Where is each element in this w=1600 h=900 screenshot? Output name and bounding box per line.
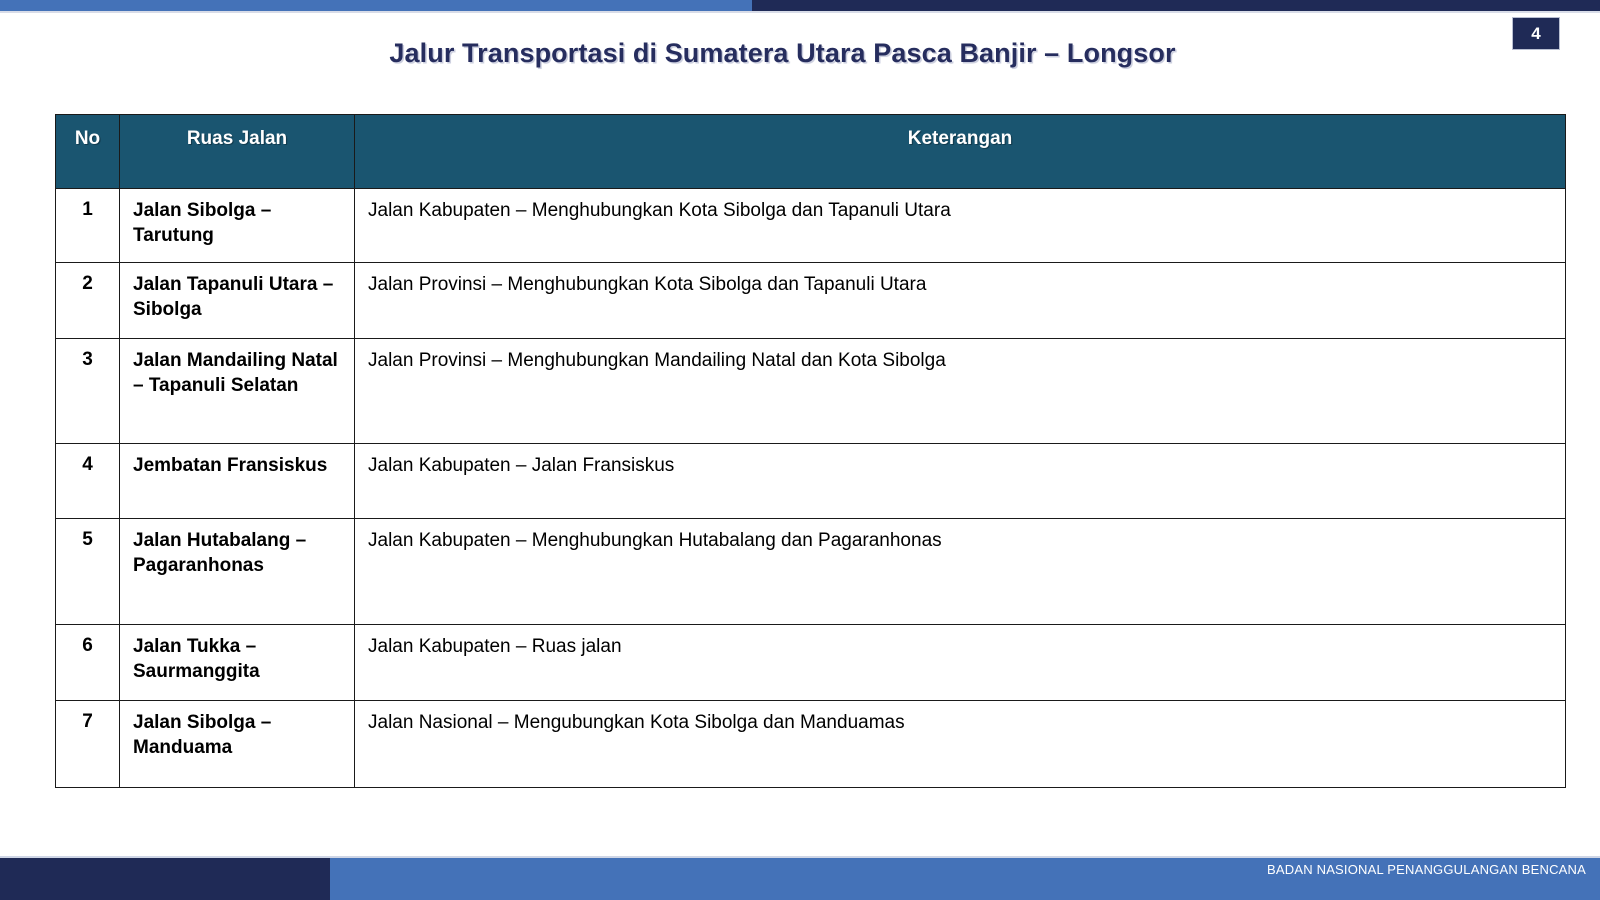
cell-keterangan: Jalan Kabupaten – Ruas jalan	[355, 625, 1566, 701]
table-row: 1 Jalan Sibolga – Tarutung Jalan Kabupat…	[56, 189, 1566, 263]
cell-ruas-jalan: Jalan Hutabalang – Pagaranhonas	[120, 519, 355, 625]
table-row: 7 Jalan Sibolga – Manduama Jalan Nasiona…	[56, 701, 1566, 788]
cell-no: 1	[56, 189, 120, 263]
top-accent-bar-right	[752, 0, 1600, 11]
cell-keterangan: Jalan Kabupaten – Menghubungkan Hutabala…	[355, 519, 1566, 625]
cell-no: 5	[56, 519, 120, 625]
column-header-no: No	[56, 115, 120, 189]
top-accent-bar-left	[0, 0, 752, 11]
table-header-row: No Ruas Jalan Keterangan	[56, 115, 1566, 189]
table-row: 6 Jalan Tukka – Saurmanggita Jalan Kabup…	[56, 625, 1566, 701]
cell-no: 3	[56, 339, 120, 444]
page-title: Jalur Transportasi di Sumatera Utara Pas…	[55, 38, 1510, 69]
cell-no: 2	[56, 263, 120, 339]
table-row: 4 Jembatan Fransiskus Jalan Kabupaten – …	[56, 444, 1566, 519]
table-row: 3 Jalan Mandailing Natal – Tapanuli Sela…	[56, 339, 1566, 444]
table-row: 2 Jalan Tapanuli Utara – Sibolga Jalan P…	[56, 263, 1566, 339]
table-row: 5 Jalan Hutabalang – Pagaranhonas Jalan …	[56, 519, 1566, 625]
slide-number-badge: 4	[1512, 17, 1560, 50]
cell-ruas-jalan: Jalan Sibolga – Tarutung	[120, 189, 355, 263]
cell-ruas-jalan: Jalan Tukka – Saurmanggita	[120, 625, 355, 701]
cell-keterangan: Jalan Provinsi – Menghubungkan Kota Sibo…	[355, 263, 1566, 339]
cell-ruas-jalan: Jalan Mandailing Natal – Tapanuli Selata…	[120, 339, 355, 444]
top-divider-line	[0, 11, 1600, 13]
cell-keterangan: Jalan Kabupaten – Menghubungkan Kota Sib…	[355, 189, 1566, 263]
cell-no: 4	[56, 444, 120, 519]
footer-organization-label: BADAN NASIONAL PENANGGULANGAN BENCANA	[1267, 862, 1586, 877]
cell-ruas-jalan: Jembatan Fransiskus	[120, 444, 355, 519]
road-segments-table: No Ruas Jalan Keterangan 1 Jalan Sibolga…	[55, 114, 1566, 788]
cell-ruas-jalan: Jalan Tapanuli Utara – Sibolga	[120, 263, 355, 339]
cell-keterangan: Jalan Kabupaten – Jalan Fransiskus	[355, 444, 1566, 519]
cell-keterangan: Jalan Nasional – Mengubungkan Kota Sibol…	[355, 701, 1566, 788]
column-header-ruas-jalan: Ruas Jalan	[120, 115, 355, 189]
cell-no: 6	[56, 625, 120, 701]
column-header-keterangan: Keterangan	[355, 115, 1566, 189]
cell-no: 7	[56, 701, 120, 788]
cell-keterangan: Jalan Provinsi – Menghubungkan Mandailin…	[355, 339, 1566, 444]
cell-ruas-jalan: Jalan Sibolga – Manduama	[120, 701, 355, 788]
footer-accent-block-navy	[0, 858, 330, 900]
